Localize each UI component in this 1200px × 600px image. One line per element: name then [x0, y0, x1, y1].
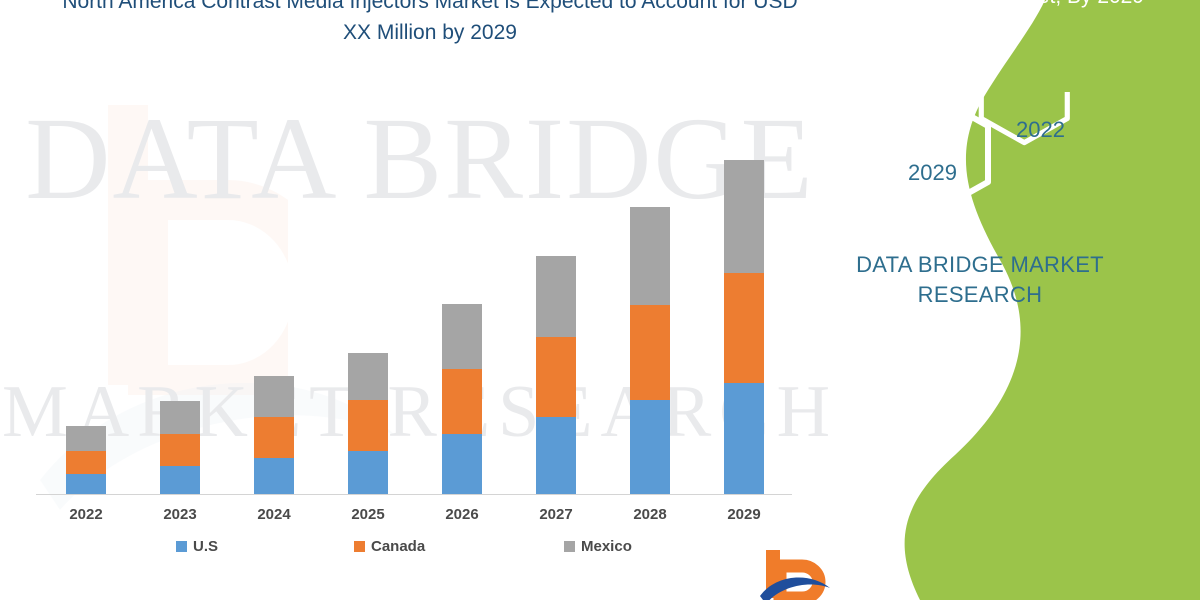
bar-2024[interactable]	[254, 376, 294, 495]
hexagon-group: 2029 2022	[848, 92, 1168, 222]
brand-panel-content: Injectors Market, By 2029 2029 2022 DATA…	[740, 0, 1200, 600]
bar-segment-mexico	[630, 207, 670, 305]
plot-area	[36, 0, 792, 495]
bar-segment-us	[160, 466, 200, 495]
bar-2023[interactable]	[160, 401, 200, 495]
x-tick-2026: 2026	[427, 506, 497, 523]
x-tick-2027: 2027	[521, 506, 591, 523]
bar-segment-mexico	[66, 426, 106, 451]
bar-2022[interactable]	[66, 426, 106, 495]
legend-swatch-canada	[354, 541, 365, 552]
x-tick-2024: 2024	[239, 506, 309, 523]
bar-segment-mexico	[160, 401, 200, 434]
logo[interactable]: DATA BRIDGE MARKET RESEARCH	[760, 548, 990, 600]
x-tick-2025: 2025	[333, 506, 403, 523]
bar-segment-mexico	[254, 376, 294, 417]
legend-item-us[interactable]: U.S	[176, 538, 218, 555]
hexagon-shapes-icon	[848, 92, 1168, 222]
chart-legend: U.S Canada Mexico	[36, 538, 792, 562]
legend-swatch-mexico	[564, 541, 575, 552]
x-axis-tick-labels: 2022 2023 2024 2025 2026 2027 2028 2029	[36, 506, 792, 534]
bar-segment-us	[536, 417, 576, 495]
bar-2027[interactable]	[536, 256, 576, 495]
bar-segment-mexico	[536, 256, 576, 337]
x-axis-line	[36, 494, 792, 495]
legend-item-canada[interactable]: Canada	[354, 538, 425, 555]
panel-title: Injectors Market, By 2029	[860, 0, 1190, 12]
bar-segment-canada	[66, 451, 106, 474]
x-tick-2028: 2028	[615, 506, 685, 523]
bar-segment-us	[254, 458, 294, 495]
bar-segment-us	[66, 474, 106, 495]
legend-label-mexico: Mexico	[581, 538, 632, 555]
legend-swatch-us	[176, 541, 187, 552]
bar-2025[interactable]	[348, 353, 388, 495]
bar-segment-canada	[536, 337, 576, 417]
bar-segment-us	[630, 400, 670, 495]
bar-segment-mexico	[442, 304, 482, 369]
hexagon-label-2022: 2022	[1016, 117, 1065, 143]
bar-2026[interactable]	[442, 304, 482, 495]
legend-label-us: U.S	[193, 538, 218, 555]
bar-2028[interactable]	[630, 207, 670, 495]
legend-label-canada: Canada	[371, 538, 425, 555]
x-tick-2022: 2022	[51, 506, 121, 523]
bar-segment-us	[442, 434, 482, 495]
bar-segment-canada	[254, 417, 294, 458]
bar-segment-canada	[442, 369, 482, 434]
data-bridge-logo-icon	[760, 548, 830, 600]
bar-segment-mexico	[348, 353, 388, 400]
brand-name: DATA BRIDGE MARKET RESEARCH	[800, 250, 1160, 310]
slide-canvas: DATA BRIDGE MARKET RESEARCH North Americ…	[0, 0, 1200, 600]
legend-item-mexico[interactable]: Mexico	[564, 538, 632, 555]
bar-segment-canada	[630, 305, 670, 400]
bar-segment-canada	[160, 434, 200, 466]
bar-segment-us	[348, 451, 388, 495]
x-tick-2023: 2023	[145, 506, 215, 523]
stacked-bar-chart: North America Contrast Media Injectors M…	[0, 0, 810, 600]
hexagon-label-2029: 2029	[908, 160, 957, 186]
bar-segment-canada	[348, 400, 388, 451]
